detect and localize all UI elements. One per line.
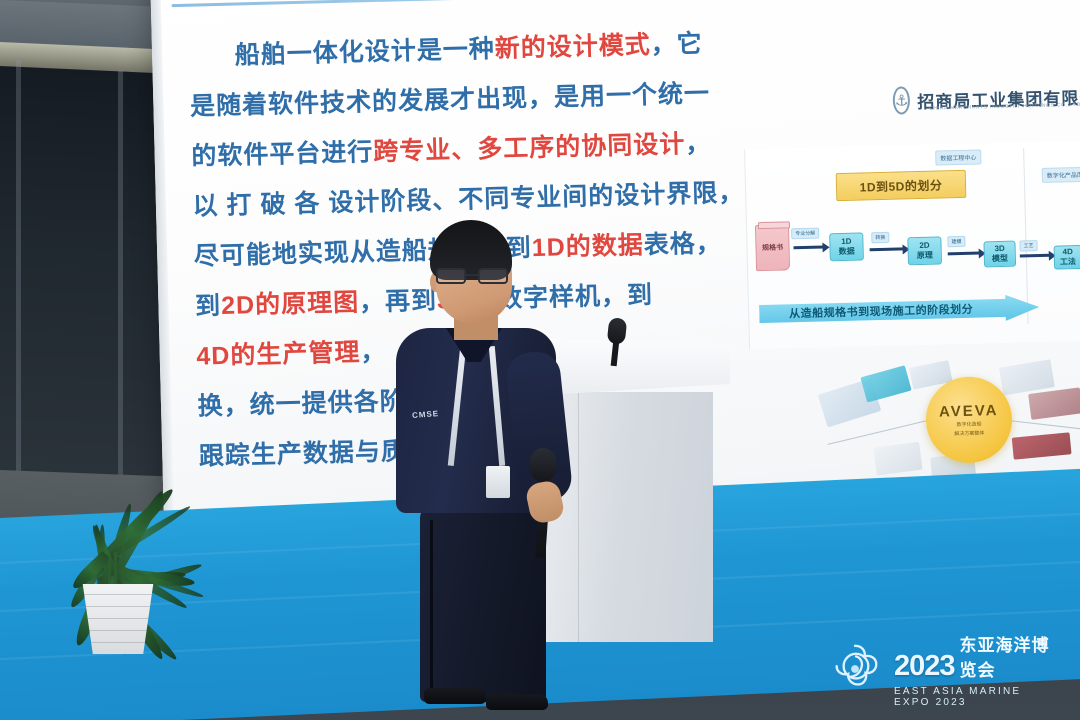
speaker-legs (420, 506, 546, 702)
sleeve-logo-text: CMSE (412, 409, 440, 420)
diagram-arrow (870, 247, 904, 251)
expo-name-en: EAST ASIA MARINE EXPO 2023 (894, 686, 1062, 708)
diagram-node: 1D 数据 (829, 232, 864, 261)
slide-text-run: ， (685, 130, 712, 159)
zone-tag-data-center: 数据工程中心 (935, 149, 981, 165)
pot-ridge (76, 594, 160, 595)
illustration-block (873, 442, 922, 476)
diagram-node: 3D 模型 (983, 241, 1016, 268)
aveva-sub-line-2: 解决方案整体 (954, 430, 984, 438)
illustration-block (999, 359, 1055, 395)
wave-flower-logo-icon (826, 640, 884, 698)
slide-text-run: ，它 (650, 30, 703, 59)
diagram-arrow (794, 245, 824, 249)
title-underline-secondary (172, 0, 772, 7)
zone-tag-product-library: 数字化产品库 (1042, 167, 1080, 183)
node-label-primary: 1D (841, 237, 851, 247)
node-label-primary: 3D (994, 244, 1004, 254)
eyeglass-bridge (466, 274, 478, 276)
diagram-divider (1023, 148, 1028, 324)
node-label-primary: 2D (919, 241, 929, 251)
potted-palm-plant (14, 364, 224, 654)
diagram-node: 4D 工法 (1054, 245, 1080, 270)
diagram-arrow-label: 转换 (871, 232, 889, 243)
merchants-anchor-icon: ⚓ (893, 86, 911, 114)
diagram-banner: 1D到5D的划分 (836, 170, 967, 201)
speaker-person: CMSE (368, 220, 588, 700)
expo-year: 2023 (894, 650, 955, 683)
diagram-arrow (1020, 254, 1050, 258)
pot-ridge (76, 618, 160, 619)
aveva-brand-text: AVEVA (939, 402, 999, 420)
slide-text-highlight: 2D的原理图 (221, 288, 360, 319)
slide-text-run: 船舶一体化设计是一种 (234, 35, 495, 70)
node-label-secondary: 数据 (839, 247, 855, 257)
diagram-arrow-label: 工艺 (1019, 240, 1037, 251)
slide-text-run: 表格， (643, 229, 722, 259)
expo-name-cn: 东亚海洋博览会 (960, 631, 1062, 683)
diagram-arrow (948, 252, 980, 256)
stage-division-diagram: 数据工程中心 数字化产品库 1D到5D的划分 规格书 专业分解 1D 数据 转换… (744, 140, 1080, 349)
illustration-block (860, 365, 911, 402)
expo-watermark: 2023 东亚海洋博览会 EAST ASIA MARINE EXPO 2023 (826, 632, 1062, 706)
diagram-bottom-arrow: 从造船规格书到现场施工的阶段划分 (759, 294, 1040, 327)
company-logo: ⚓ 招商局工业集团有限公司 CHINA MERCHANTS INDUSTRY H… (892, 75, 1080, 121)
node-label-secondary: 原理 (917, 251, 933, 261)
node-label-primary: 4D (1062, 247, 1072, 257)
speaker-leg-gap (430, 520, 433, 690)
node-label-secondary: 模型 (992, 254, 1008, 264)
pot-ridge (76, 606, 160, 607)
diagram-arrow-label: 建模 (947, 236, 965, 247)
microphone-head (530, 448, 556, 482)
illustration-block (1012, 432, 1072, 459)
illustration-block (1028, 387, 1080, 420)
eyeglass-lens (478, 268, 508, 284)
diagram-source-doc: 规格书 (755, 224, 790, 271)
speaker-shoe (424, 688, 486, 704)
eyeglasses-icon (436, 268, 514, 284)
diagram-node: 2D 原理 (907, 236, 942, 265)
name-badge (486, 466, 510, 498)
node-label-secondary: 工法 (1060, 257, 1076, 267)
slide-text-run: 是随着软件技术的发展才出现，是用一个统一 (190, 80, 711, 121)
eyeglass-lens (436, 268, 466, 284)
aveva-logo-badge: AVEVA 数字化造船 解决方案整体 (925, 376, 1013, 464)
screenshot-root: 化设计概述 船舶一体化设计是一种新的设计模式，它是随着软件技术的发展才出现，是用… (0, 0, 1080, 720)
slide-text-run: 的软件平台进行 (191, 138, 374, 171)
slide-text-run: 以 打 破 各 设计阶段、不同专业间的设计界限， (192, 179, 744, 221)
expo-title-row: 2023 东亚海洋博览会 (894, 631, 1062, 683)
speaker-shoe (486, 694, 548, 710)
expo-text-block: 2023 东亚海洋博览会 EAST ASIA MARINE EXPO 2023 (894, 631, 1062, 708)
slide-text-run: 到 (195, 292, 222, 321)
diagram-arrow-label: 专业分解 (791, 228, 819, 240)
aveva-sub-line-1: 数字化造船 (956, 421, 981, 429)
slide-text-highlight: 跨专业、多工序的协同设计 (373, 130, 686, 166)
slide-text-highlight: 新的设计模式 (494, 31, 651, 63)
